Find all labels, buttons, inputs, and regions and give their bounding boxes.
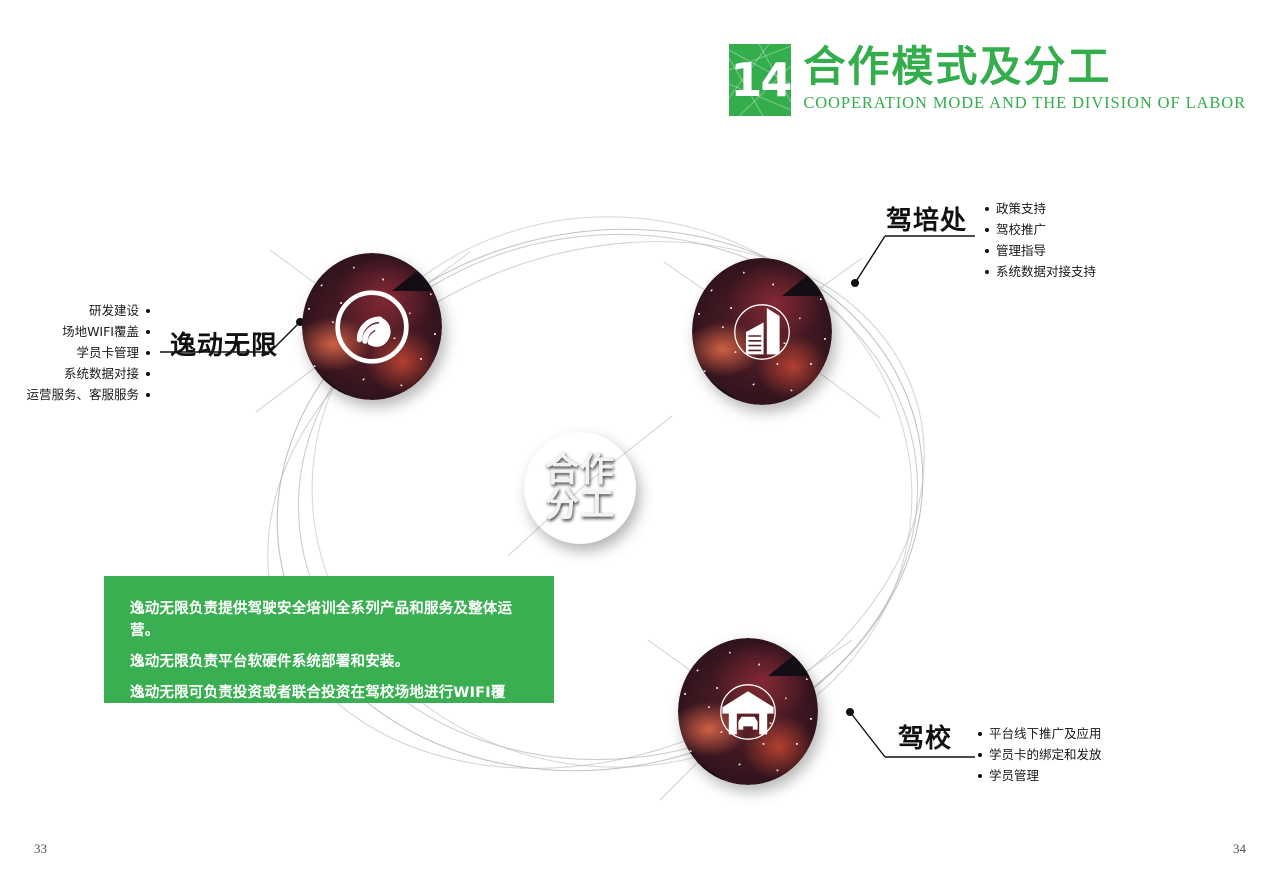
leader-line-jiapeichu [855, 236, 975, 283]
bullets-jiaxiao: 平台线下推广及应用 学员卡的绑定和发放 学员管理 [978, 723, 1102, 786]
bullet-dot-icon [985, 207, 989, 211]
bullets-yidong: 研发建设 场地WIFI覆盖 学员卡管理 系统数据对接 运营服务、客服服务 [0, 300, 150, 405]
label-yidong: 逸动无限 [170, 325, 278, 362]
bullet-dot-icon [146, 372, 150, 376]
list-item: 研发建设 [0, 300, 150, 321]
label-jiapeichu: 驾培处 [886, 200, 967, 237]
garage-car-icon [678, 638, 818, 785]
bullet-text: 系统数据对接支持 [996, 261, 1096, 282]
bullet-dot-icon [985, 249, 989, 253]
bullet-dot-icon [978, 774, 982, 778]
office-building-icon [692, 258, 832, 405]
leader-dot-jiapeichu [851, 279, 859, 287]
center-node-label: 合作 分工 [524, 432, 636, 544]
list-item: 驾校推广 [985, 219, 1096, 240]
bullets-jiapeichu: 政策支持 驾校推广 管理指导 系统数据对接支持 [985, 198, 1096, 282]
bullet-text: 学员卡的绑定和发放 [989, 744, 1102, 765]
node-yidong[interactable] [302, 253, 442, 400]
list-item: 平台线下推广及应用 [978, 723, 1102, 744]
bullet-dot-icon [146, 351, 150, 355]
page-number-left: 33 [34, 841, 47, 857]
bullet-dot-icon [985, 270, 989, 274]
bullet-text: 政策支持 [996, 198, 1046, 219]
bullet-text: 研发建设 [89, 300, 139, 321]
page-number-right: 34 [1233, 841, 1246, 857]
list-item: 学员管理 [978, 765, 1102, 786]
responsibility-callout-box: 逸动无限负责提供驾驶安全培训全系列产品和服务及整体运营。 逸动无限负责平台软硬件… [104, 576, 554, 703]
bullet-text: 驾校推广 [996, 219, 1046, 240]
list-item: 系统数据对接支持 [985, 261, 1096, 282]
list-item: 系统数据对接 [0, 363, 150, 384]
bullet-dot-icon [146, 393, 150, 397]
node-jiaxiao[interactable] [678, 638, 818, 785]
node-jiapeichu[interactable] [692, 258, 832, 405]
bullet-dot-icon [146, 309, 150, 313]
list-item: 政策支持 [985, 198, 1096, 219]
bullet-text: 学员卡管理 [76, 342, 139, 363]
center-line-2: 分工 [545, 488, 615, 523]
list-item: 运营服务、客服服务 [0, 384, 150, 405]
callout-line: 逸动无限负责提供驾驶安全培训全系列产品和服务及整体运营。 [130, 598, 528, 642]
callout-line: 逸动无限可负责投资或者联合投资在驾校场地进行WIFI覆盖， [130, 682, 528, 726]
callout-line: 为驾校学员推出WIFI便民服务。 [130, 735, 528, 757]
center-line-1: 合作 [545, 453, 615, 488]
bullet-text: 系统数据对接 [64, 363, 139, 384]
bullet-text: 平台线下推广及应用 [989, 723, 1102, 744]
bullet-dot-icon [985, 228, 989, 232]
list-item: 管理指导 [985, 240, 1096, 261]
bullet-dot-icon [978, 732, 982, 736]
bullet-text: 场地WIFI覆盖 [62, 321, 139, 342]
bullet-text: 管理指导 [996, 240, 1046, 261]
leader-dot-jiaxiao [846, 708, 854, 716]
list-item: 学员卡管理 [0, 342, 150, 363]
label-jiaxiao: 驾校 [898, 718, 952, 755]
slide-page: 14 合作模式及分工 COOPERATION MODE AND THE DIVI… [0, 0, 1280, 875]
list-item: 场地WIFI覆盖 [0, 321, 150, 342]
wifi-signal-icon [302, 253, 442, 400]
bullet-text: 运营服务、客服服务 [26, 384, 139, 405]
bullet-dot-icon [146, 330, 150, 334]
list-item: 学员卡的绑定和发放 [978, 744, 1102, 765]
bullet-text: 学员管理 [989, 765, 1039, 786]
bullet-dot-icon [978, 753, 982, 757]
callout-line: 逸动无限负责平台软硬件系统部署和安装。 [130, 651, 528, 673]
node-center-cooperation[interactable]: 合作 分工 [524, 432, 636, 544]
